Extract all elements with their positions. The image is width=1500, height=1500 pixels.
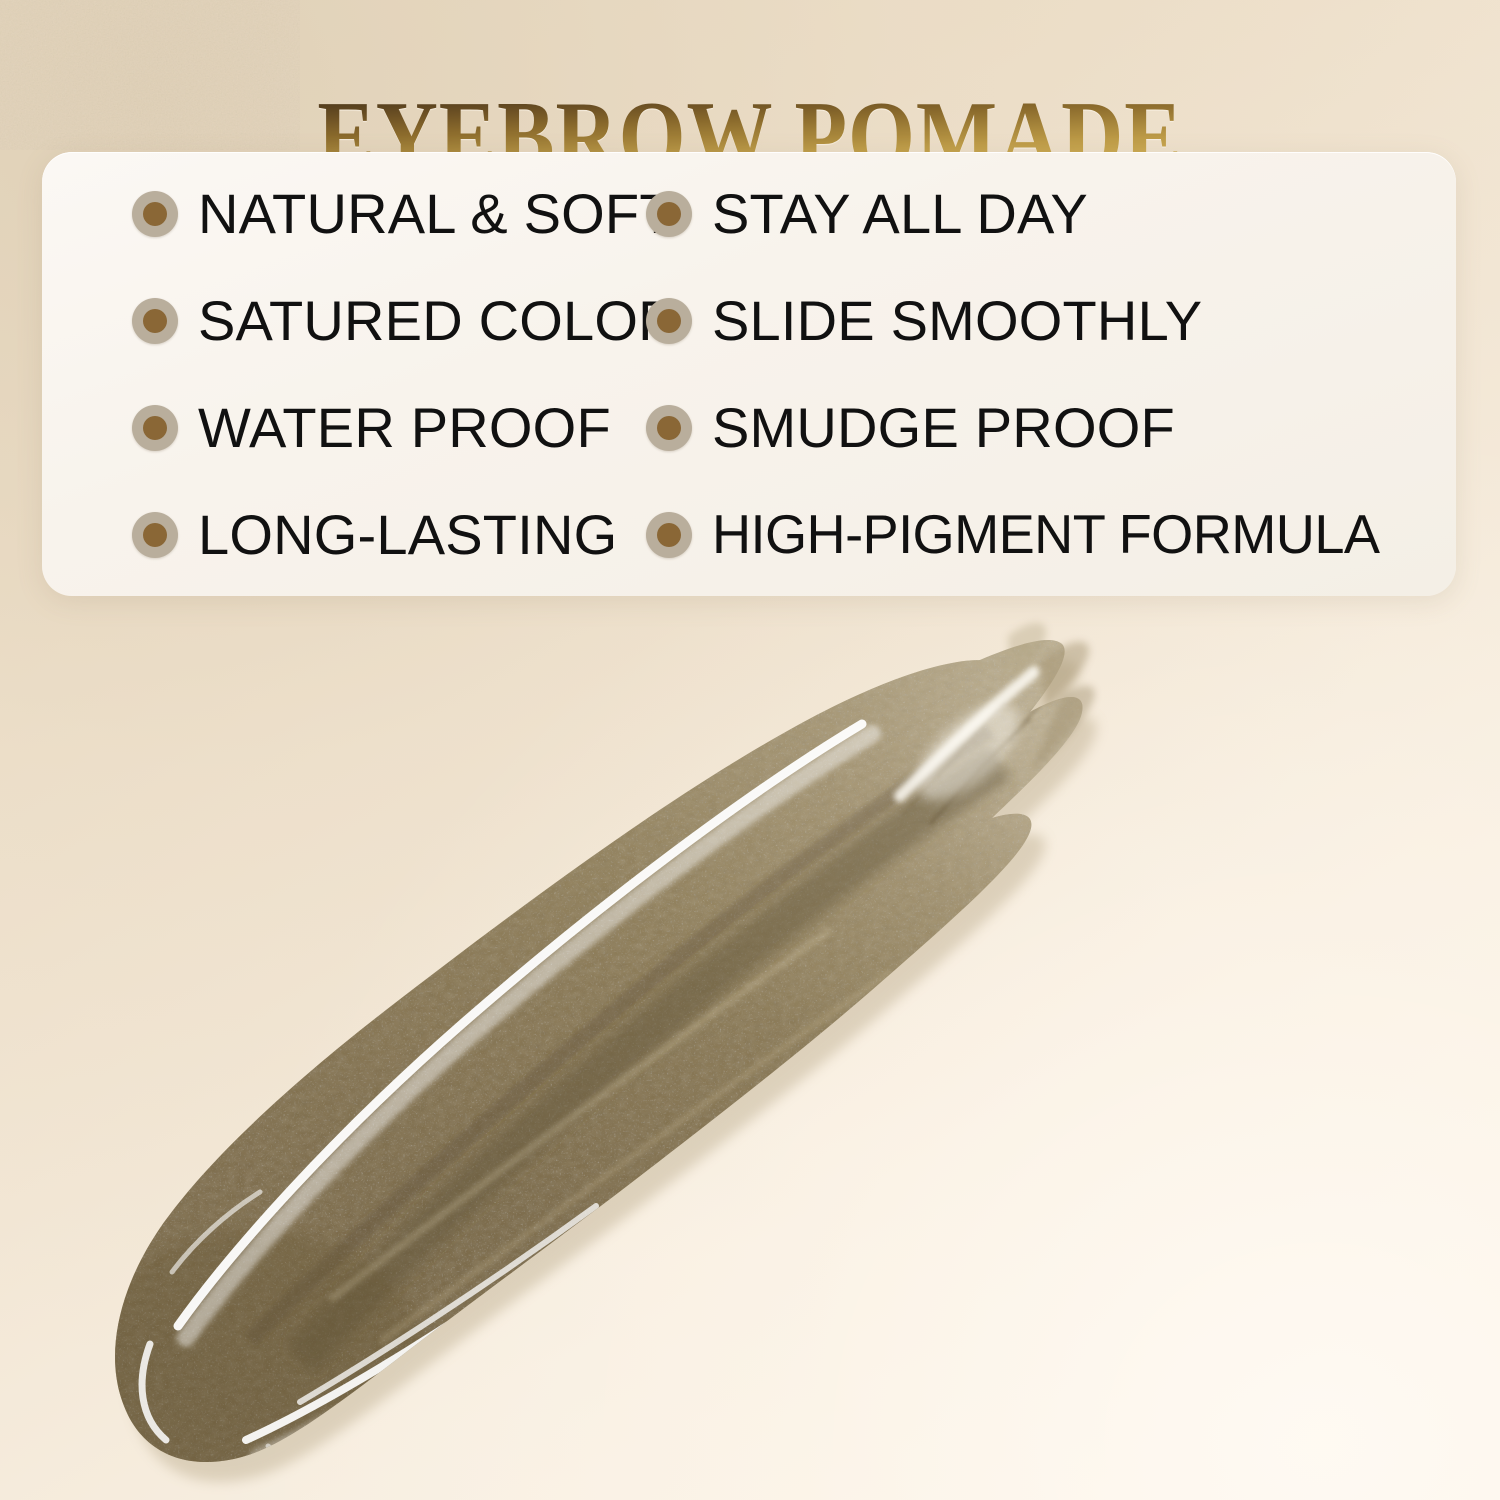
feature-item-satured-color: SATURED COLOR — [42, 293, 642, 349]
product-feature-poster: EYEBROW POMADE NATURAL & SOFT SATURED CO… — [0, 0, 1500, 1500]
feature-item-smudge-proof: SMUDGE PROOF — [642, 400, 1456, 456]
product-swatch-area — [0, 600, 1500, 1500]
bullet-dot-icon — [646, 298, 692, 344]
feature-label: WATER PROOF — [198, 400, 611, 456]
feature-label: SLIDE SMOOTHLY — [712, 293, 1202, 349]
feature-card: NATURAL & SOFT SATURED COLOR WATER PROOF… — [42, 152, 1456, 596]
bullet-dot-icon — [132, 405, 178, 451]
feature-label: NATURAL & SOFT — [198, 186, 674, 242]
feature-item-long-lasting: LONG-LASTING — [42, 507, 642, 563]
bullet-dot-icon — [646, 191, 692, 237]
feature-list: NATURAL & SOFT SATURED COLOR WATER PROOF… — [42, 152, 1456, 596]
feature-item-natural-soft: NATURAL & SOFT — [42, 186, 642, 242]
bullet-dot-icon — [132, 191, 178, 237]
swatch-body — [0, 600, 1500, 1500]
bullet-dot-icon — [646, 405, 692, 451]
feature-label: LONG-LASTING — [198, 507, 617, 563]
feature-item-slide-smoothly: SLIDE SMOOTHLY — [642, 293, 1456, 349]
feature-label: STAY ALL DAY — [712, 186, 1088, 242]
bullet-dot-icon — [132, 298, 178, 344]
feature-label: SMUDGE PROOF — [712, 400, 1175, 456]
pomade-swatch-illustration — [0, 600, 1500, 1500]
feature-item-stay-all-day: STAY ALL DAY — [642, 186, 1456, 242]
feature-label: SATURED COLOR — [198, 293, 679, 349]
feature-label: HIGH-PIGMENT FORMULA — [712, 507, 1379, 562]
bullet-dot-icon — [646, 512, 692, 558]
feature-item-high-pigment-formula: HIGH-PIGMENT FORMULA — [642, 507, 1456, 562]
bullet-dot-icon — [132, 512, 178, 558]
feature-item-water-proof: WATER PROOF — [42, 400, 642, 456]
